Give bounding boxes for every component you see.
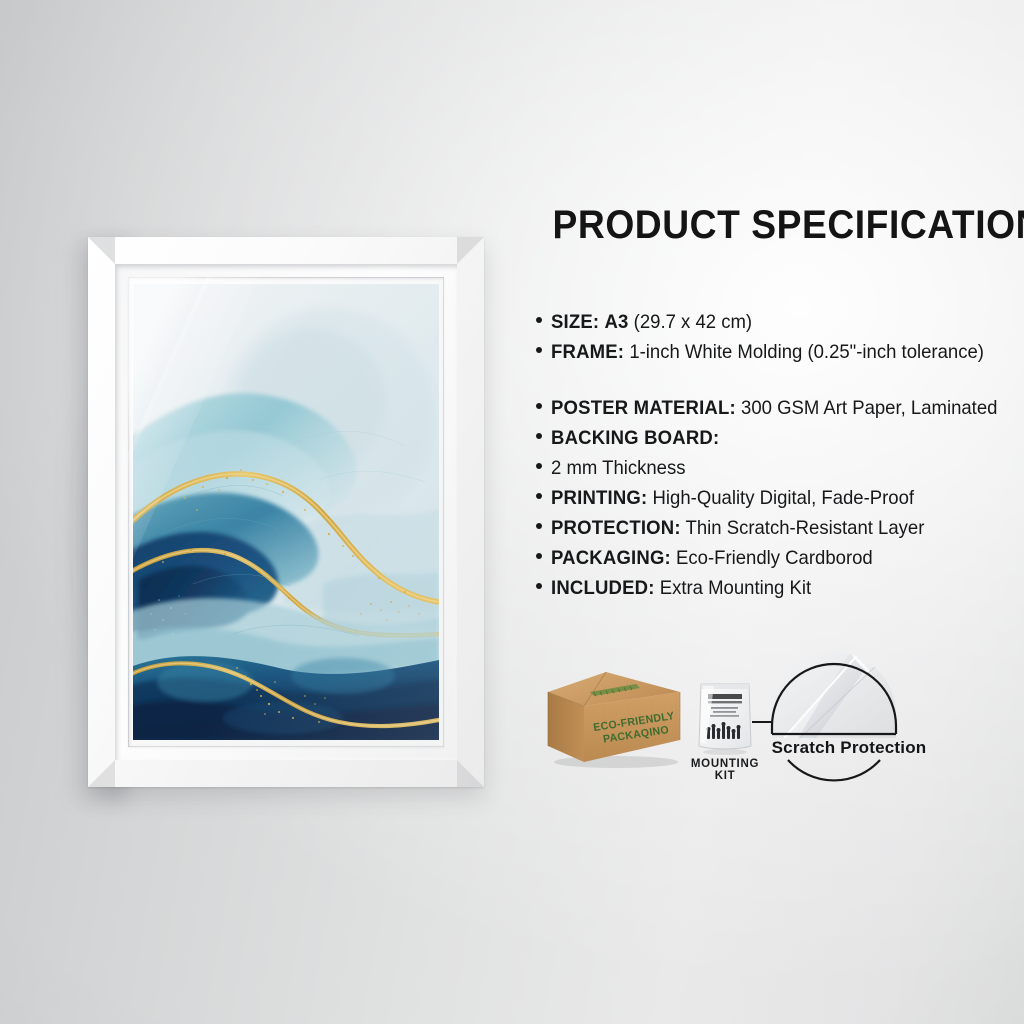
poster-artwork (133, 284, 439, 740)
spec-label-backing-board: BACKING BOARD: (551, 427, 719, 449)
spec-value-poster-material: 300 GSM Art Paper, Laminated (741, 397, 997, 419)
spec-value-protection: Thin Scratch-Resistant Layer (686, 517, 925, 539)
bullet-icon (536, 403, 542, 409)
scratch-protection-caption: Scratch Protection (754, 738, 944, 758)
bullet-icon (536, 317, 542, 323)
spec-item-backing-board: BACKING BOARD: (536, 423, 1008, 453)
spec-value-printing: High-Quality Digital, Fade-Proof (653, 487, 915, 509)
packaging-illustration: ECO-FRIENDLY PACKAQINO (536, 640, 966, 790)
spec-label-printing: PRINTING: (551, 487, 647, 509)
product-spec-mockup: PRODUCT SPECIFICATIONS SIZE: A3 (29.7 x … (0, 0, 1024, 1024)
spec-label-poster-material: POSTER MATERIAL: (551, 397, 736, 419)
spec-item-included: INCLUDED: Extra Mounting Kit (536, 573, 1008, 603)
spec-group-primary: SIZE: A3 (29.7 x 42 cm) FRAME: 1-inch Wh… (536, 307, 1008, 367)
frame-mitre-bottom-left (88, 760, 115, 787)
frame-mitre-top-right (457, 237, 484, 264)
bullet-icon (536, 583, 542, 589)
frame-mitre-top-left (88, 237, 115, 264)
spec-group-secondary: POSTER MATERIAL: 300 GSM Art Paper, Lami… (536, 393, 1008, 603)
page-title: PRODUCT SPECIFICATIONS (553, 205, 992, 245)
spec-label-size: SIZE: (551, 311, 599, 333)
bullet-icon (536, 463, 542, 469)
bullet-icon (536, 347, 542, 353)
bullet-icon (536, 553, 542, 559)
spec-label-included: INCLUDED: (551, 577, 655, 599)
spec-value-frame: 1-inch White Molding (0.25"-inch toleran… (629, 341, 984, 363)
bullet-icon (536, 523, 542, 529)
spec-value-size: A3 (604, 311, 628, 333)
spec-item-size: SIZE: A3 (29.7 x 42 cm) (536, 307, 1008, 337)
spec-item-packaging: PACKAGING: Eco-Friendly Cardborod (536, 543, 1008, 573)
spec-value-included: Extra Mounting Kit (660, 577, 811, 599)
frame-mitre-bottom-right (457, 760, 484, 787)
bullet-icon (536, 493, 542, 499)
spec-label-frame: FRAME: (551, 341, 624, 363)
spec-item-printing: PRINTING: High-Quality Digital, Fade-Pro… (536, 483, 1008, 513)
spec-item-poster-material: POSTER MATERIAL: 300 GSM Art Paper, Lami… (536, 393, 1008, 423)
spec-value-packaging: Eco-Friendly Cardborod (676, 547, 873, 569)
mounting-kit-pouch (694, 680, 756, 752)
spec-label-packaging: PACKAGING: (551, 547, 671, 569)
spec-item-thickness: 2 mm Thickness (536, 453, 1008, 483)
spec-item-frame: FRAME: 1-inch White Molding (0.25"-inch … (536, 337, 1008, 367)
spec-group-divider (536, 367, 1008, 393)
bullet-icon (536, 433, 542, 439)
spec-item-protection: PROTECTION: Thin Scratch-Resistant Layer (536, 513, 1008, 543)
spec-value-thickness: 2 mm Thickness (551, 457, 686, 479)
cardboard-box: ECO-FRIENDLY PACKAQINO (544, 658, 684, 768)
mounting-kit-caption: MOUNTING KIT (686, 758, 764, 782)
picture-frame-molding (88, 237, 484, 787)
spec-label-protection: PROTECTION: (551, 517, 681, 539)
framed-poster[interactable] (88, 237, 484, 787)
specifications-panel: PRODUCT SPECIFICATIONS SIZE: A3 (29.7 x … (536, 205, 1008, 603)
scratch-protection-badge (754, 642, 944, 782)
spec-extra-size: (29.7 x 42 cm) (634, 311, 752, 333)
